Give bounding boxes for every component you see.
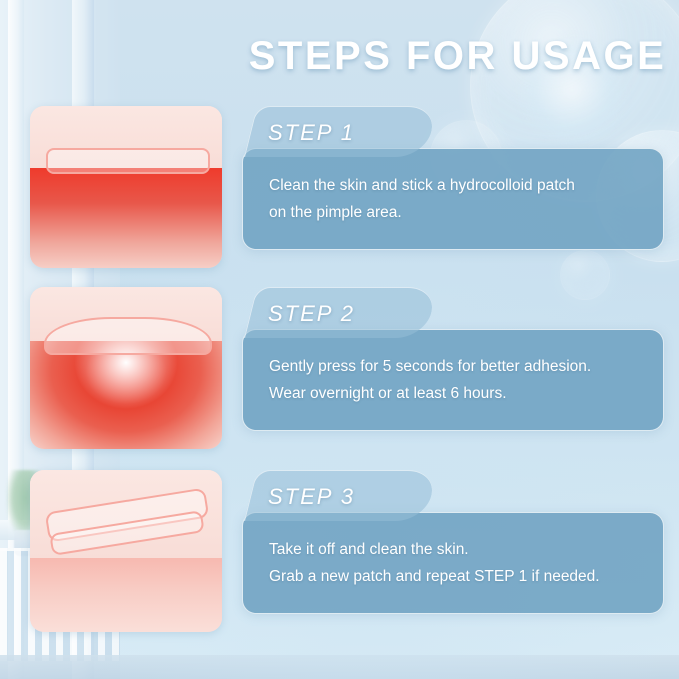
- step-1-line-1: Clean the skin and stick a hydrocolloid …: [269, 175, 649, 197]
- step-2-line-1: Gently press for 5 seconds for better ad…: [269, 356, 649, 378]
- step-1-text-panel: Clean the skin and stick a hydrocolloid …: [242, 148, 664, 250]
- step-2-label: STEP 2: [268, 291, 438, 337]
- step-2-illustration: [30, 287, 222, 449]
- skin-healed-area: [30, 558, 222, 632]
- step-1-label: STEP 1: [268, 110, 438, 156]
- step-3-line-1: Take it off and clean the skin.: [269, 539, 649, 561]
- skin-inflamed-area-pressed: [30, 341, 222, 449]
- step-row-2: Gently press for 5 seconds for better ad…: [30, 287, 650, 449]
- hydrocolloid-patch: [46, 148, 210, 174]
- floor-strip: [0, 655, 679, 679]
- step-1-text: Clean the skin and stick a hydrocolloid …: [269, 149, 649, 249]
- step-2-text: Gently press for 5 seconds for better ad…: [269, 330, 649, 430]
- infographic-page: STEPS FOR USAGE Clean the skin and stick…: [0, 0, 679, 679]
- step-1-line-2: on the pimple area.: [269, 202, 649, 224]
- step-2-text-panel: Gently press for 5 seconds for better ad…: [242, 329, 664, 431]
- step-3-line-2: Grab a new patch and repeat STEP 1 if ne…: [269, 566, 649, 588]
- step-3-text-panel: Take it off and clean the skin. Grab a n…: [242, 512, 664, 614]
- page-title: STEPS FOR USAGE: [245, 34, 670, 79]
- step-3-illustration: [30, 470, 222, 632]
- skin-inflamed-area: [30, 168, 222, 268]
- hydrocolloid-patch-raised: [44, 317, 212, 355]
- step-1-illustration: [30, 106, 222, 268]
- step-3-text: Take it off and clean the skin. Grab a n…: [269, 513, 649, 613]
- step-2-line-2: Wear overnight or at least 6 hours.: [269, 383, 649, 405]
- step-row-3: Take it off and clean the skin. Grab a n…: [30, 470, 650, 632]
- step-3-label: STEP 3: [268, 474, 438, 520]
- step-row-1: Clean the skin and stick a hydrocolloid …: [30, 106, 650, 268]
